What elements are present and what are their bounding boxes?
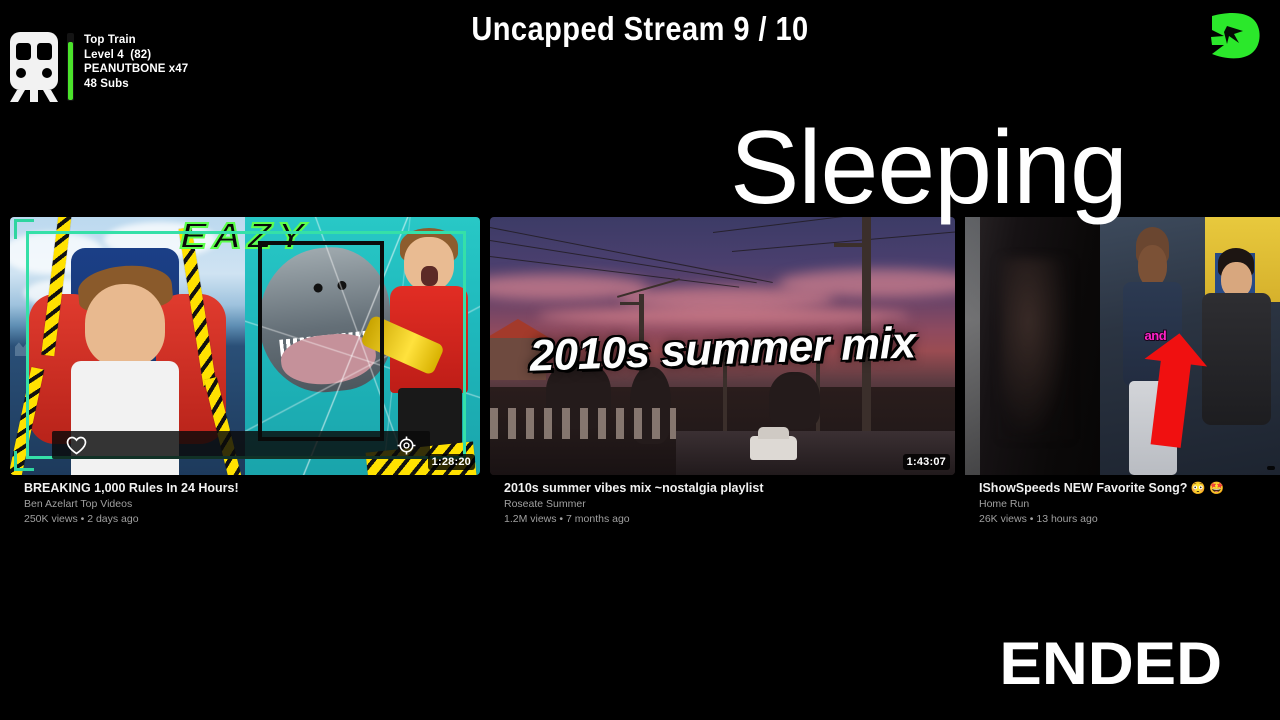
- video-title-emoji: 😳 🤩: [1191, 481, 1224, 495]
- video-card[interactable]: and IShowSpeeds NEW Favorite Song? 😳 🤩 H…: [965, 217, 1280, 526]
- video-title[interactable]: IShowSpeeds NEW Favorite Song? 😳 🤩: [979, 481, 1280, 496]
- thumbnail-overlay-text: and: [1145, 328, 1167, 343]
- video-channel[interactable]: Ben Azelart Top Videos: [24, 497, 480, 512]
- video-thumbnail[interactable]: 2010s summer mix 1:43:07: [490, 217, 955, 475]
- video-stats: 250K views • 2 days ago: [24, 512, 480, 526]
- heart-icon[interactable]: [66, 436, 87, 455]
- player-status-overlay: Top Train Level 4 (82) PEANUTBONE x47 48…: [8, 30, 188, 104]
- thumbnail-black-frame: [258, 241, 384, 441]
- video-card[interactable]: EAZY: [10, 217, 480, 526]
- video-meta: 2010s summer vibes mix ~nostalgia playli…: [490, 475, 955, 526]
- video-meta: IShowSpeeds NEW Favorite Song? 😳 🤩 Home …: [965, 475, 1280, 526]
- video-channel[interactable]: Home Run: [979, 497, 1280, 512]
- video-card[interactable]: 2010s summer mix 1:43:07 2010s summer vi…: [490, 217, 955, 526]
- video-stats: 26K views • 13 hours ago: [979, 512, 1280, 526]
- green-leaf-arrow-logo-icon[interactable]: [1206, 8, 1266, 62]
- video-title[interactable]: BREAKING 1,000 Rules In 24 Hours!: [24, 481, 480, 496]
- video-thumbnail[interactable]: and: [965, 217, 1280, 475]
- now-playing-word: Sleeping: [730, 116, 1127, 220]
- level-progress-bar: [67, 33, 74, 101]
- thumbnail-overlay-text: EAZY: [10, 217, 480, 257]
- video-duration: 1:43:07: [903, 454, 950, 470]
- player-level: Level 4 (82): [84, 48, 188, 63]
- train-icon: [8, 30, 60, 104]
- status-text-block: Top Train Level 4 (82) PEANUTBONE x47 48…: [84, 30, 188, 91]
- video-duration: [1267, 466, 1275, 470]
- thumbnail-bright-half: [1100, 217, 1280, 475]
- level-progress-fill: [68, 42, 73, 100]
- video-thumbnail[interactable]: EAZY: [10, 217, 480, 475]
- top-sub: PEANUTBONE x47: [84, 62, 188, 77]
- video-duration: 1:28:20: [428, 454, 475, 470]
- page-title: Uncapped Stream 9 / 10: [77, 10, 1203, 48]
- thumbnail-dark-half: [965, 217, 1100, 475]
- video-meta: BREAKING 1,000 Rules In 24 Hours! Ben Az…: [10, 475, 480, 526]
- video-channel[interactable]: Roseate Summer: [504, 497, 955, 512]
- video-title-text: IShowSpeeds NEW Favorite Song?: [979, 481, 1187, 495]
- thumbnail-hud-bar: [52, 431, 430, 459]
- video-title[interactable]: 2010s summer vibes mix ~nostalgia playli…: [504, 481, 955, 496]
- frame-corner-bottom-left: [14, 451, 34, 471]
- frame-corner-top-left: [14, 219, 34, 239]
- status-badge: ENDED: [999, 634, 1222, 694]
- video-results-row: EAZY: [0, 217, 1280, 537]
- sub-count: 48 Subs: [84, 77, 188, 92]
- player-name: Top Train: [84, 33, 188, 48]
- video-stats: 1.2M views • 7 months ago: [504, 512, 955, 526]
- crosshair-icon[interactable]: [397, 436, 416, 455]
